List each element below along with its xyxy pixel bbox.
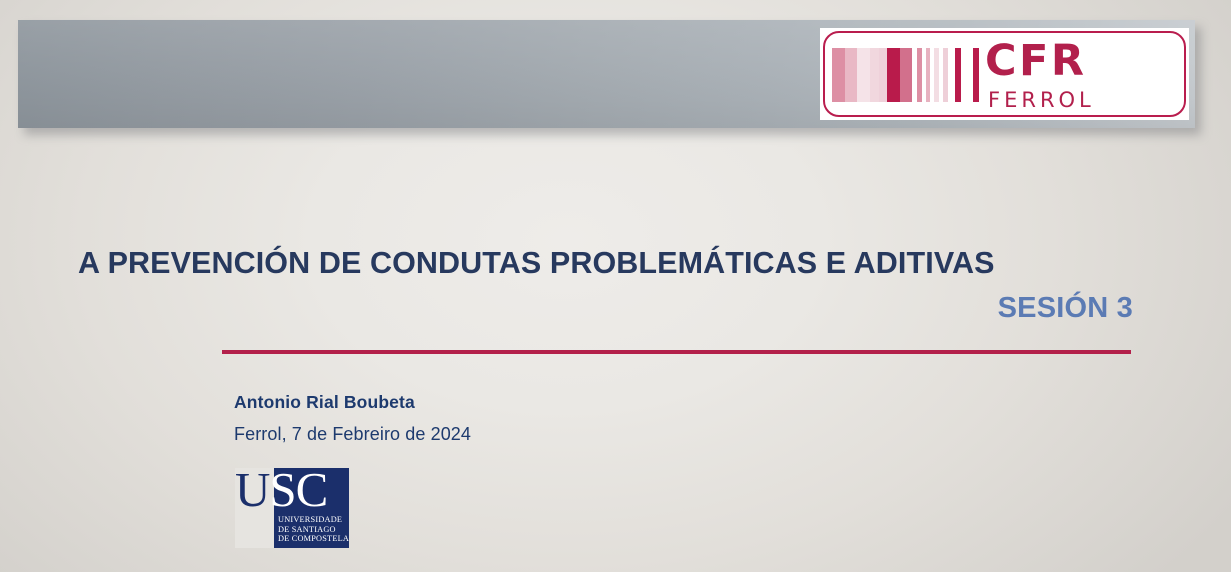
author-name: Antonio Rial Boubeta [234, 392, 471, 413]
usc-logo: USC UNIVERSIDADE DE SANTIAGO DE COMPOSTE… [235, 468, 349, 548]
cfr-barcode-bar [973, 48, 979, 102]
usc-logo-line3: DE COMPOSTELA [278, 534, 348, 544]
cfr-logo-subtitle: FERROL [988, 90, 1175, 111]
cfr-logo-name: CFR [985, 40, 1175, 83]
usc-logo-line2: DE SANTIAGO [278, 525, 348, 535]
cfr-barcode-bar [879, 48, 887, 102]
usc-logo-initial: U [235, 462, 269, 517]
cfr-barcode-icon [832, 48, 979, 102]
cfr-barcode-bar [900, 48, 912, 102]
page-subtitle: SESIÓN 3 [78, 293, 1133, 325]
cfr-barcode-bar [845, 48, 857, 102]
cfr-barcode-bar [870, 48, 879, 102]
usc-logo-initials-block: SC [269, 462, 327, 517]
cfr-barcode-bar [961, 48, 973, 102]
cfr-barcode-bar [887, 48, 900, 102]
author-block: Antonio Rial Boubeta Ferrol, 7 de Febrei… [234, 392, 471, 446]
cfr-barcode-bar [832, 48, 845, 102]
cfr-wordmark: CFR FERROL [985, 40, 1175, 111]
title-block: A PREVENCIÓN DE CONDUTAS PROBLEMÁTICAS E… [78, 246, 1133, 325]
divider-rule [222, 350, 1131, 354]
usc-logo-letters: USC [235, 464, 349, 516]
page-title: A PREVENCIÓN DE CONDUTAS PROBLEMÁTICAS E… [78, 246, 1133, 280]
usc-logo-subtext: UNIVERSIDADE DE SANTIAGO DE COMPOSTELA [278, 515, 348, 544]
cfr-barcode-bar [948, 48, 955, 102]
cfr-barcode-bar [857, 48, 870, 102]
presentation-slide: CFR FERROL A PREVENCIÓN DE CONDUTAS PROB… [0, 0, 1231, 572]
author-place-date: Ferrol, 7 de Febreiro de 2024 [234, 424, 471, 446]
usc-logo-line1: UNIVERSIDADE [278, 515, 348, 525]
